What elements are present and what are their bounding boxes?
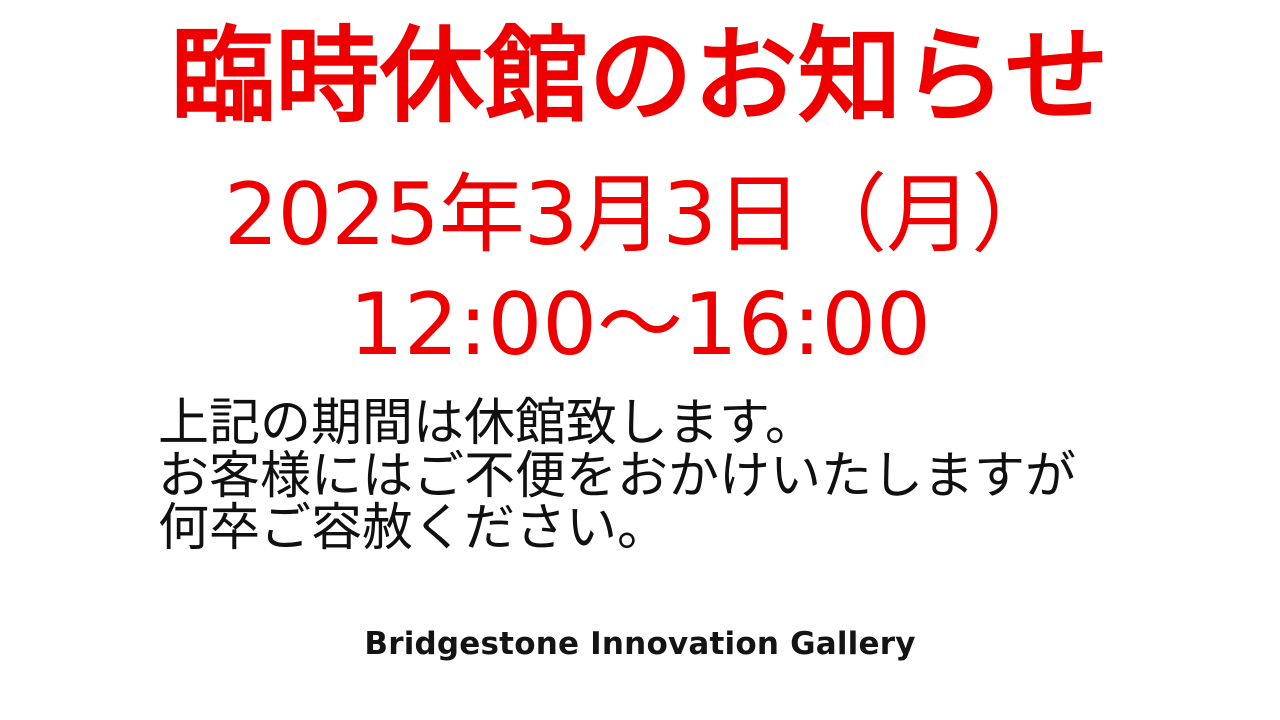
notice-body-line-1: 上記の期間は休館致します。: [158, 398, 1158, 451]
schedule-block: 2025年3月3日（月） 12:00〜16:00: [0, 160, 1280, 380]
temporary-closure-notice: 臨時休館のお知らせ 2025年3月3日（月） 12:00〜16:00 上記の期間…: [0, 0, 1280, 720]
page-title: 臨時休館のお知らせ: [0, 18, 1280, 134]
closure-time-range: 12:00〜16:00: [0, 270, 1280, 380]
closure-date: 2025年3月3日（月）: [0, 160, 1280, 270]
organization-name: Bridgestone Innovation Gallery: [0, 627, 1280, 661]
notice-body-line-3: 何卒ご容赦ください。: [158, 503, 1158, 556]
notice-body: 上記の期間は休館致します。 お客様にはご不便をおかけいたしますが 何卒ご容赦くだ…: [158, 398, 1158, 556]
notice-body-line-2: お客様にはご不便をおかけいたしますが: [158, 451, 1158, 504]
